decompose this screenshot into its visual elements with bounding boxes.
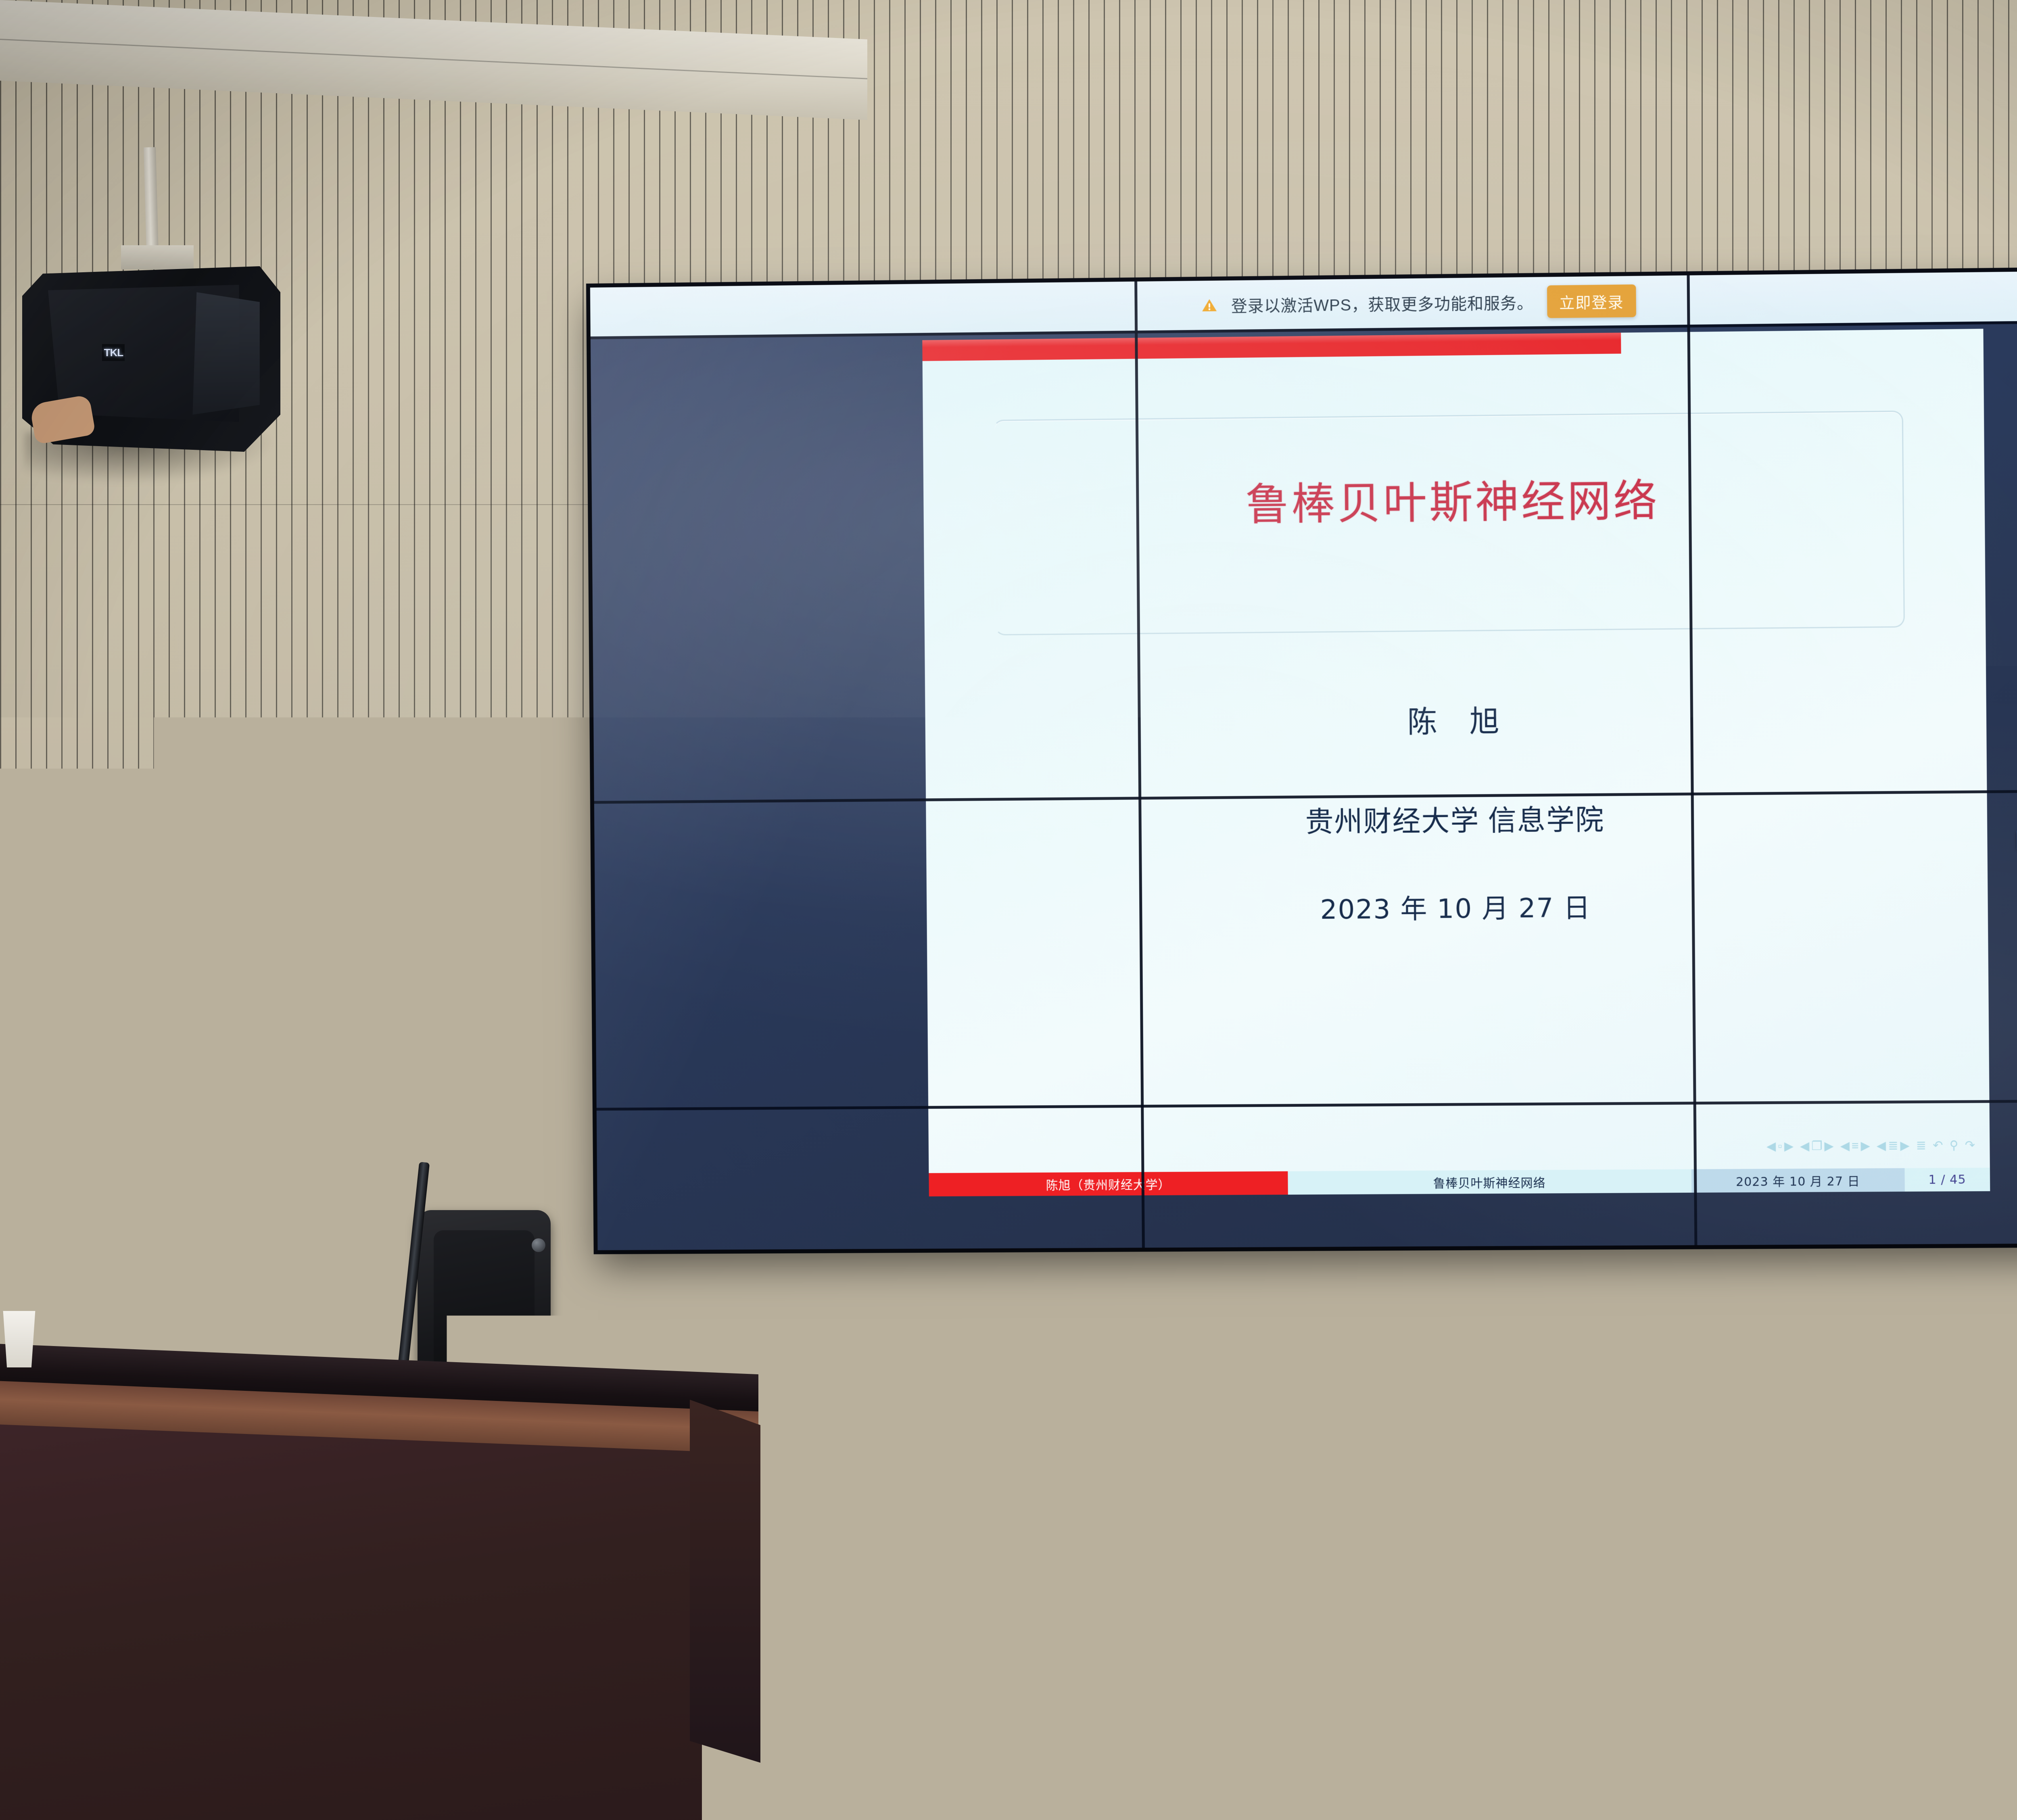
- forward-icon[interactable]: ↷: [1965, 1138, 1975, 1152]
- subsection-next-icon[interactable]: ▶: [1860, 1139, 1870, 1153]
- warning-triangle-icon: [1201, 298, 1217, 313]
- slide-affiliation: 贵州财经大学 信息学院: [926, 794, 1987, 843]
- glasses-lens-left: [294, 1094, 333, 1121]
- footer-date-block: 2023 年 10 月 27 日: [1691, 1168, 1905, 1193]
- frame-next-icon[interactable]: ▶: [1824, 1139, 1833, 1153]
- wps-login-button[interactable]: 立即登录: [1547, 284, 1636, 318]
- section-next-icon[interactable]: ▶: [1900, 1139, 1909, 1153]
- footer-title-block: 鲁棒贝叶斯神经网络: [1288, 1169, 1691, 1195]
- podium-front-panel: [0, 1424, 702, 1820]
- back-icon[interactable]: ↶: [1933, 1138, 1943, 1152]
- frame-prev-icon[interactable]: ◀: [1800, 1139, 1809, 1153]
- section-prev-icon[interactable]: ◀: [1877, 1139, 1886, 1153]
- slide-prev-icon[interactable]: ◀: [1766, 1139, 1776, 1153]
- slide-icon[interactable]: ▫: [1778, 1140, 1782, 1153]
- chair-adjust-knob[interactable]: [532, 1238, 545, 1252]
- subsection-nav-group[interactable]: ◀ ≡ ▶: [1840, 1139, 1870, 1153]
- slide-next-icon[interactable]: ▶: [1784, 1139, 1794, 1153]
- speaker-side-panel: [192, 292, 259, 415]
- footer-page-counter: 1 / 45: [1904, 1168, 1990, 1192]
- presenter-mouth: [318, 1146, 357, 1156]
- subsection-icon[interactable]: ≡: [1852, 1139, 1859, 1153]
- presentation-slide[interactable]: 鲁棒贝叶斯神经网络 陈 旭 贵州财经大学 信息学院 2023 年 10 月 27…: [922, 329, 1990, 1196]
- video-wall-display[interactable]: 登录以激活WPS，获取更多功能和服务。 立即登录 × 鲁棒贝叶斯神经网络 陈 旭…: [590, 269, 2017, 1250]
- beamer-navigation-bar[interactable]: ◀ ▫ ▶ ◀ ❐ ▶ ◀ ≡ ▶ ◀: [1766, 1138, 1975, 1154]
- footer-author-block: 陈旭（贵州财经大学）: [929, 1171, 1288, 1196]
- subsection-prev-icon[interactable]: ◀: [1840, 1139, 1850, 1153]
- glasses-bridge: [330, 1103, 344, 1104]
- glasses-lens-right: [343, 1094, 382, 1121]
- lecture-hall-scene: TKL 登录以激活WPS，获取更多功能和服务。 立即登录 ×: [0, 0, 2017, 1820]
- cable-plug: [1281, 1395, 1307, 1453]
- slide-title: 鲁棒贝叶斯神经网络: [923, 462, 1985, 535]
- speaker-mount-plate: [121, 245, 194, 269]
- frame-icon[interactable]: ❐: [1811, 1139, 1822, 1153]
- presentation-icon[interactable]: ≣: [1916, 1138, 1927, 1152]
- speaker-brand-logo: TKL: [102, 344, 125, 361]
- frame-nav-group[interactable]: ◀ ❐ ▶: [1800, 1139, 1834, 1154]
- search-icon[interactable]: ⚲: [1949, 1138, 1958, 1152]
- mouse-led-indicator: [83, 1400, 90, 1406]
- slide-date: 2023 年 10 月 27 日: [927, 883, 1988, 929]
- slide-nav-group[interactable]: ◀ ▫ ▶: [1766, 1139, 1794, 1153]
- podium-side-panel: [690, 1400, 760, 1763]
- slide-author: 陈 旭: [925, 693, 1986, 745]
- microphone-head: [387, 1129, 411, 1154]
- section-icon[interactable]: ≣: [1888, 1139, 1898, 1153]
- wps-message-text: 登录以激活WPS，获取更多功能和服务。: [1231, 290, 1534, 317]
- section-nav-group[interactable]: ◀ ≣ ▶: [1877, 1139, 1910, 1153]
